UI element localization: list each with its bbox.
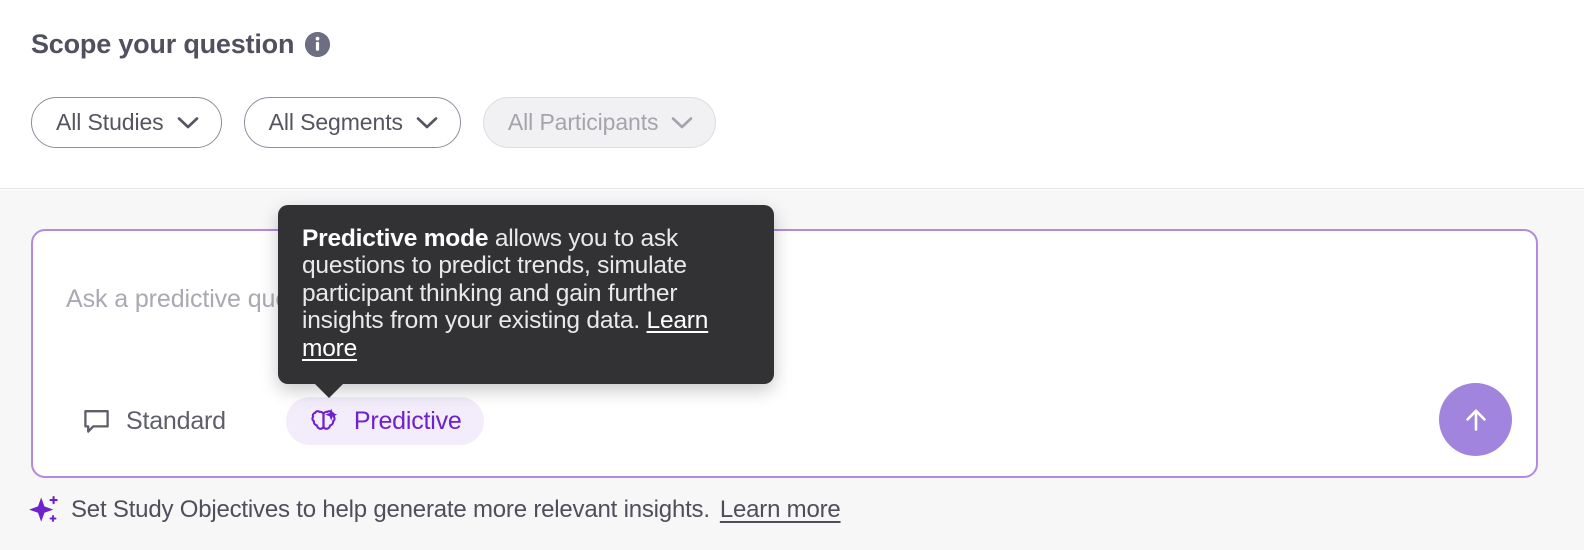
mode-chip-predictive-label: Predictive	[354, 409, 462, 434]
filter-pill-all-studies[interactable]: All Studies	[31, 97, 222, 148]
scope-section: Scope your question All Studies All Segm…	[0, 0, 1584, 189]
study-objectives-hint-text: Set Study Objectives to help generate mo…	[71, 498, 710, 522]
scope-filter-row: All Studies All Segments All Participant…	[31, 97, 716, 148]
filter-pill-all-participants: All Participants	[483, 97, 717, 148]
mode-toggle-row: Standard Predictive	[78, 397, 484, 445]
sparkle-icon	[27, 493, 61, 527]
send-button[interactable]	[1439, 383, 1512, 456]
scope-title-row: Scope your question	[31, 31, 330, 58]
study-objectives-learn-more-link[interactable]: Learn more	[720, 498, 841, 522]
mode-chip-standard[interactable]: Standard	[78, 397, 248, 445]
study-objectives-hint: Set Study Objectives to help generate mo…	[27, 493, 841, 527]
filter-pill-all-participants-label: All Participants	[508, 111, 659, 134]
filter-pill-all-studies-label: All Studies	[56, 111, 164, 134]
question-input-box[interactable]: Ask a predictive question (e.g. 'What is…	[31, 229, 1538, 478]
page-title: Scope your question	[31, 31, 294, 58]
mode-chip-standard-label: Standard	[126, 409, 226, 434]
chevron-down-icon	[416, 116, 438, 130]
filter-pill-all-segments-label: All Segments	[269, 111, 403, 134]
predictive-mode-tooltip: Predictive mode allows you to ask questi…	[278, 205, 774, 384]
chevron-down-icon	[671, 116, 693, 130]
composer-area: Ask a predictive question (e.g. 'What is…	[0, 190, 1584, 550]
mode-chip-predictive[interactable]: Predictive	[286, 397, 484, 445]
info-icon[interactable]	[305, 32, 330, 57]
filter-pill-all-segments[interactable]: All Segments	[244, 97, 461, 148]
predictive-mode-tooltip-text: Predictive mode allows you to ask questi…	[302, 225, 750, 362]
tooltip-arrow	[314, 383, 344, 398]
speech-bubble-icon	[82, 407, 111, 436]
arrow-up-icon	[1459, 403, 1493, 437]
predictive-mode-tooltip-title: Predictive mode	[302, 225, 488, 252]
chevron-down-icon	[177, 116, 199, 130]
brain-sparkle-icon	[308, 406, 339, 437]
